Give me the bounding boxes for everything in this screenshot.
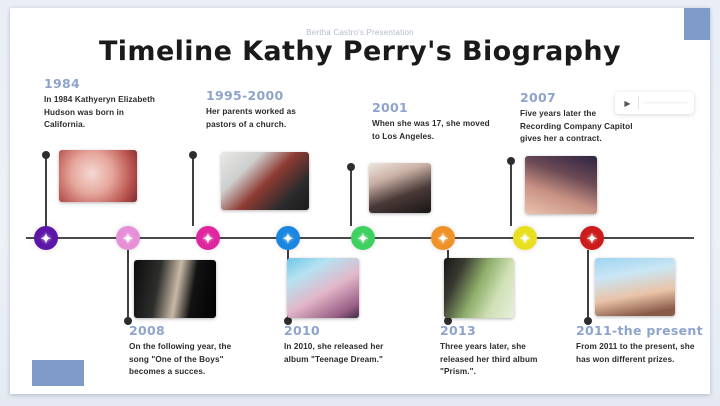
stem-cap xyxy=(347,163,355,171)
entry-description: In 2010, she released her album "Teenage… xyxy=(284,341,402,366)
teenage-dream-photo[interactable] xyxy=(287,258,359,318)
los-angeles-photo[interactable] xyxy=(369,163,431,213)
entry-year: 1984 xyxy=(44,76,162,91)
entry-year: 2013 xyxy=(440,323,558,338)
node-glyph: ✦ xyxy=(283,232,294,245)
entry-year: 1995-2000 xyxy=(206,88,324,103)
baby-photo[interactable] xyxy=(59,150,137,202)
entry-year: 2008 xyxy=(129,323,247,338)
timeline-entry-1984[interactable]: 1984 In 1984 Kathyeryn Elizabeth Hudson … xyxy=(44,76,162,132)
stem-cap xyxy=(42,151,50,159)
entry-description: Her parents worked as pastors of a churc… xyxy=(206,106,324,131)
timeline-node-2010[interactable]: ✦ xyxy=(431,226,455,250)
page-title: Timeline Kathy Perry's Biography xyxy=(10,36,710,67)
presentation-screenshot: Bertha Castro's Presentation Timeline Ka… xyxy=(0,0,720,406)
entry-description: In 1984 Kathyeryn Elizabeth Hudson was b… xyxy=(44,94,162,132)
stem-2008 xyxy=(127,250,129,322)
timeline-node-1984[interactable]: ✦ xyxy=(34,226,58,250)
node-glyph: ✦ xyxy=(123,232,134,245)
timeline-entry-2010[interactable]: 2010 In 2010, she released her album "Te… xyxy=(284,323,402,366)
media-overlay-widget[interactable]: ▶ ————————— xyxy=(615,92,694,114)
timeline-entry-2013[interactable]: 2013 Three years later, she released her… xyxy=(440,323,558,379)
node-glyph: ✦ xyxy=(438,232,449,245)
timeline-entry-2001[interactable]: 2001 When she was 17, she moved to Los A… xyxy=(372,100,490,143)
timeline-node-2008[interactable]: ✦ xyxy=(351,226,375,250)
decorative-square-bottom-left xyxy=(32,360,84,386)
entry-year: 2001 xyxy=(372,100,490,115)
entry-description: When she was 17, she moved to Los Angele… xyxy=(372,118,490,143)
entry-description: From 2011 to the present, she has won di… xyxy=(576,341,701,366)
timeline-node-2001[interactable]: ✦ xyxy=(196,226,220,250)
entry-year: 2011-the present xyxy=(576,323,703,338)
stem-2001 xyxy=(350,166,352,226)
contract-photo[interactable] xyxy=(525,156,597,214)
node-glyph: ✦ xyxy=(358,232,369,245)
stem-1995-2000 xyxy=(192,154,194,226)
stem-cap xyxy=(189,151,197,159)
play-icon[interactable]: ▶ xyxy=(621,97,634,110)
entry-year: 2010 xyxy=(284,323,402,338)
one-of-the-boys-photo[interactable] xyxy=(134,260,216,318)
timeline-entry-1995-2000[interactable]: 1995-2000 Her parents worked as pastors … xyxy=(206,88,324,131)
slide-canvas[interactable]: Bertha Castro's Presentation Timeline Ka… xyxy=(10,8,710,394)
node-glyph: ✦ xyxy=(587,232,598,245)
node-glyph: ✦ xyxy=(203,232,214,245)
widget-divider xyxy=(638,96,639,110)
stem-2007 xyxy=(510,160,512,226)
entry-description: Three years later, she released her thir… xyxy=(440,341,558,379)
prizes-photo[interactable] xyxy=(595,258,675,316)
timeline-entry-2008[interactable]: 2008 On the following year, the song "On… xyxy=(129,323,247,379)
timeline-node-2013[interactable]: ✦ xyxy=(513,226,537,250)
entry-description: On the following year, the song "One of … xyxy=(129,341,247,379)
stem-cap xyxy=(507,157,515,165)
timeline-node-2011-present[interactable]: ✦ xyxy=(580,226,604,250)
stem-1984 xyxy=(45,154,47,226)
widget-label: ————————— xyxy=(643,100,688,106)
stem-2011-present xyxy=(587,250,589,322)
timeline-node-1995-2000[interactable]: ✦ xyxy=(116,226,140,250)
prism-photo[interactable] xyxy=(444,258,514,318)
family-photo[interactable] xyxy=(221,152,309,210)
node-glyph: ✦ xyxy=(41,232,52,245)
timeline-entry-2011-present[interactable]: 2011-the present From 2011 to the presen… xyxy=(576,323,703,366)
timeline-node-2007[interactable]: ✦ xyxy=(276,226,300,250)
node-glyph: ✦ xyxy=(520,232,531,245)
